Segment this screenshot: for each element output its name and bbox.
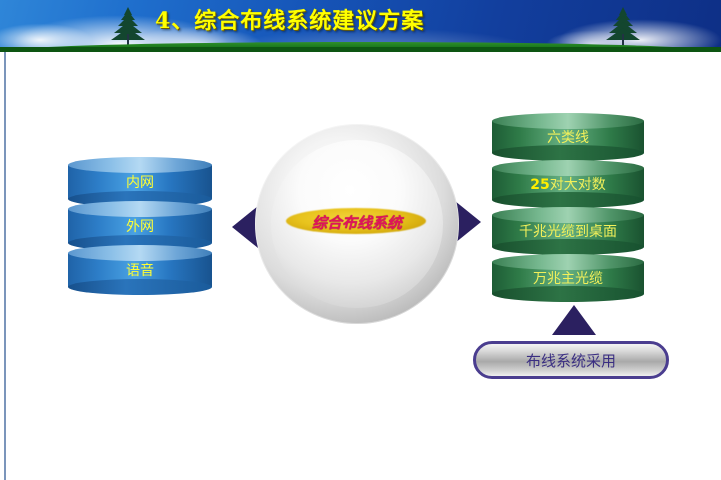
cylinder-foot	[68, 279, 212, 295]
left-vertical-rule	[4, 52, 6, 480]
cylinder-cat6-cable[interactable]: 六类线	[492, 113, 644, 161]
cylinder-foot	[492, 145, 644, 161]
pine-tree-left-icon	[105, 6, 151, 48]
cylinder-label: 外网	[126, 216, 154, 236]
cylinder-label: 语音	[126, 260, 154, 280]
cylinder-25pair-bundle[interactable]: 25对大对数	[492, 160, 644, 208]
cylinder-cap	[68, 245, 212, 261]
cylinder-voice[interactable]: 语音	[68, 245, 212, 295]
cylinder-label: 25对大对数	[530, 174, 605, 194]
cylinder-label: 千兆光缆到桌面	[519, 221, 617, 241]
cylinder-label: 万兆主光缆	[533, 268, 603, 288]
cylinder-label-number: 25	[530, 177, 549, 193]
cabling-system-adopts-pill[interactable]: 布线系统采用	[473, 341, 669, 379]
pill-label: 布线系统采用	[526, 350, 616, 371]
cylinder-foot	[492, 192, 644, 208]
cylinder-gigabit-fiber-to-desktop[interactable]: 千兆光缆到桌面	[492, 207, 644, 255]
slide-canvas: 4、综合布线系统建议方案 内网 外网 语音 综合布线系统 六类线	[0, 0, 721, 480]
page-title: 4、综合布线系统建议方案	[155, 3, 424, 35]
arrow-up-icon	[552, 305, 596, 335]
cylinder-10gig-backbone-fiber[interactable]: 万兆主光缆	[492, 254, 644, 302]
cylinder-label-text: 对大对数	[550, 177, 606, 193]
cylinder-foot	[492, 239, 644, 255]
banner-grass-edge	[0, 47, 721, 52]
pine-tree-right-icon	[600, 6, 646, 48]
cylinder-intranet[interactable]: 内网	[68, 157, 212, 207]
cylinder-label: 内网	[126, 172, 154, 192]
central-sphere-label: 综合布线系统	[286, 211, 428, 233]
slide-banner: 4、综合布线系统建议方案	[0, 0, 721, 52]
cylinder-cap	[68, 157, 212, 173]
cylinder-extranet[interactable]: 外网	[68, 201, 212, 251]
cylinder-cap	[68, 201, 212, 217]
cylinder-foot	[492, 286, 644, 302]
cylinder-label: 六类线	[547, 127, 589, 147]
